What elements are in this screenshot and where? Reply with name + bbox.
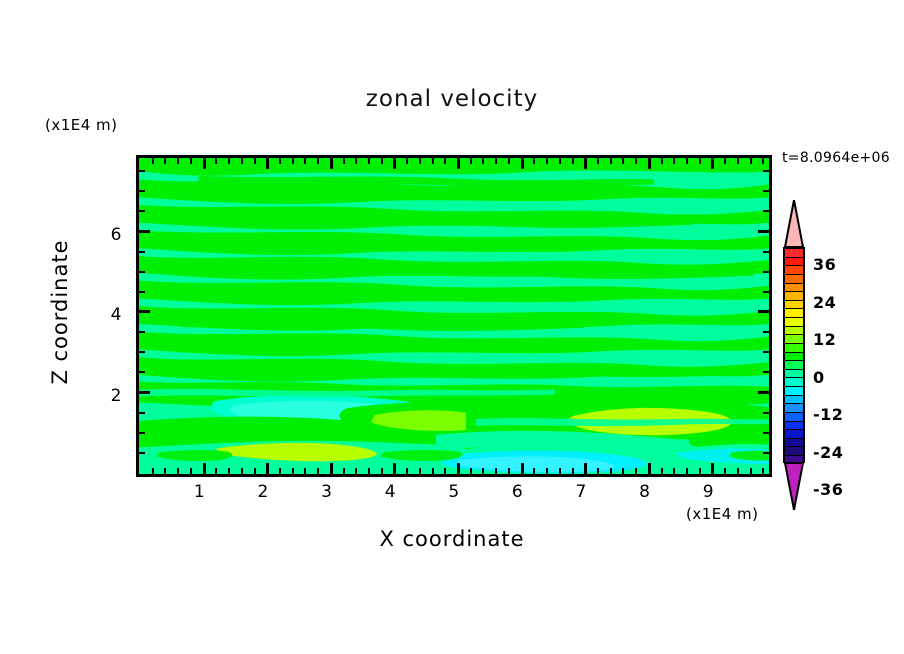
x-tick-top-minor (470, 158, 472, 164)
x-tick-minor (241, 468, 243, 474)
x-tick-top-minor (686, 158, 688, 164)
colorbar-over-arrow (783, 200, 805, 249)
colorbar-band (785, 370, 803, 379)
y-tick-right-minor (763, 210, 769, 212)
x-tick-label: 5 (439, 482, 469, 502)
x-tick-top-major (584, 158, 587, 169)
x-tick-major (457, 463, 460, 474)
y-tick-right-minor (763, 351, 769, 353)
x-tick-top-minor (215, 158, 217, 164)
colorbar-band (785, 404, 803, 413)
x-tick-minor (724, 468, 726, 474)
y-tick-label: 2 (98, 386, 122, 406)
x-tick-minor (482, 468, 484, 474)
timestamp-annotation: t=8.0964e+06 (782, 150, 890, 166)
x-tick-major (393, 463, 396, 474)
x-tick-top-minor (661, 158, 663, 164)
x-tick-top-minor (355, 158, 357, 164)
x-tick-top-minor (292, 158, 294, 164)
colorbar-label: 0 (813, 368, 825, 387)
x-tick-minor (317, 468, 319, 474)
x-tick-top-minor (597, 158, 599, 164)
x-tick-minor (406, 468, 408, 474)
x-tick-top-major (457, 158, 460, 169)
colorbar[interactable]: 36 24 12 0 -12 -24 -36 (783, 200, 805, 510)
x-tick-minor (635, 468, 637, 474)
y-tick-right-major (758, 310, 769, 313)
y-tick-right-minor (763, 271, 769, 273)
x-tick-minor (152, 468, 154, 474)
x-tick-minor (444, 468, 446, 474)
x-tick-minor (368, 468, 370, 474)
x-tick-top-minor (622, 158, 624, 164)
x-tick-minor (470, 468, 472, 474)
x-tick-top-minor (241, 158, 243, 164)
x-tick-minor (661, 468, 663, 474)
x-tick-major (521, 463, 524, 474)
x-tick-top-minor (279, 158, 281, 164)
colorbar-band (785, 292, 803, 301)
x-tick-top-minor (228, 158, 230, 164)
colorbar-band (785, 344, 803, 353)
y-tick-minor (139, 371, 145, 373)
x-tick-minor (177, 468, 179, 474)
x-tick-top-minor (559, 158, 561, 164)
x-tick-major (266, 463, 269, 474)
colorbar-band (785, 447, 803, 456)
x-tick-top-minor (406, 158, 408, 164)
x-tick-top-minor (750, 158, 752, 164)
x-tick-minor (419, 468, 421, 474)
contour-field (139, 158, 769, 474)
y-tick-major (139, 230, 150, 233)
x-tick-top-major (266, 158, 269, 169)
x-tick-top-minor (343, 158, 345, 164)
x-tick-minor (686, 468, 688, 474)
colorbar-label: 36 (813, 255, 836, 274)
y-tick-minor (139, 271, 145, 273)
y-tick-label: 4 (98, 305, 122, 325)
x-tick-major (648, 463, 651, 474)
y-tick-minor (139, 432, 145, 434)
colorbar-label: -36 (813, 480, 843, 499)
colorbar-band (785, 439, 803, 448)
x-tick-top-minor (368, 158, 370, 164)
colorbar-bands[interactable] (783, 247, 805, 463)
x-tick-major (584, 463, 587, 474)
x-tick-top-minor (724, 158, 726, 164)
x-tick-minor (228, 468, 230, 474)
colorbar-band (785, 378, 803, 387)
x-tick-top-minor (152, 158, 154, 164)
y-tick-minor (139, 251, 145, 253)
x-tick-top-minor (737, 158, 739, 164)
x-tick-top-minor (304, 158, 306, 164)
x-tick-top-minor (381, 158, 383, 164)
x-tick-top-minor (533, 158, 535, 164)
y-axis-unit-caption: (x1E4 m) (45, 116, 118, 134)
x-tick-minor (215, 468, 217, 474)
x-tick-top-minor (673, 158, 675, 164)
x-tick-minor (559, 468, 561, 474)
x-tick-major (711, 463, 714, 474)
x-tick-label: 4 (375, 482, 405, 502)
y-tick-right-minor (763, 371, 769, 373)
x-tick-top-minor (317, 158, 319, 164)
x-tick-minor (750, 468, 752, 474)
x-tick-minor (495, 468, 497, 474)
x-tick-minor (343, 468, 345, 474)
x-tick-minor (572, 468, 574, 474)
x-tick-major (203, 463, 206, 474)
x-tick-minor (699, 468, 701, 474)
contour-plot-area[interactable] (136, 155, 772, 477)
y-tick-right-minor (763, 291, 769, 293)
x-tick-top-minor (699, 158, 701, 164)
x-axis-unit-caption: (x1E4 m) (686, 505, 759, 523)
colorbar-band (785, 430, 803, 439)
colorbar-band (785, 258, 803, 267)
x-tick-top-major (203, 158, 206, 169)
x-tick-top-major (521, 158, 524, 169)
colorbar-band (785, 413, 803, 422)
y-axis-title: Z coordinate (48, 217, 72, 407)
y-tick-minor (139, 190, 145, 192)
x-tick-top-major (711, 158, 714, 169)
y-tick-right-minor (763, 452, 769, 454)
x-tick-top-minor (508, 158, 510, 164)
y-tick-minor (139, 412, 145, 414)
x-tick-minor (622, 468, 624, 474)
y-tick-right-minor (763, 331, 769, 333)
y-tick-minor (139, 331, 145, 333)
y-tick-major (139, 391, 150, 394)
y-tick-minor (139, 351, 145, 353)
y-tick-major (139, 310, 150, 313)
x-tick-minor (279, 468, 281, 474)
x-tick-minor (432, 468, 434, 474)
x-tick-top-major (330, 158, 333, 169)
colorbar-band (785, 275, 803, 284)
x-tick-top-major (648, 158, 651, 169)
colorbar-band (785, 318, 803, 327)
y-tick-right-minor (763, 412, 769, 414)
colorbar-band (785, 335, 803, 344)
x-tick-top-minor (635, 158, 637, 164)
x-tick-minor (304, 468, 306, 474)
x-tick-minor (597, 468, 599, 474)
x-tick-top-minor (482, 158, 484, 164)
x-tick-top-minor (610, 158, 612, 164)
colorbar-under-arrow (783, 461, 805, 510)
x-tick-minor (737, 468, 739, 474)
colorbar-band (785, 361, 803, 370)
y-tick-right-minor (763, 251, 769, 253)
x-tick-minor (533, 468, 535, 474)
colorbar-band (785, 266, 803, 275)
x-tick-minor (254, 468, 256, 474)
colorbar-band (785, 387, 803, 396)
y-tick-right-minor (763, 170, 769, 172)
x-tick-minor (508, 468, 510, 474)
x-tick-top-minor (190, 158, 192, 164)
x-tick-minor (762, 468, 764, 474)
x-tick-top-minor (546, 158, 548, 164)
x-tick-label: 7 (566, 482, 596, 502)
colorbar-label: 12 (813, 330, 836, 349)
colorbar-label: -24 (813, 443, 843, 462)
y-tick-minor (139, 210, 145, 212)
x-tick-label: 6 (503, 482, 533, 502)
x-tick-top-minor (419, 158, 421, 164)
x-tick-top-minor (254, 158, 256, 164)
x-tick-major (330, 463, 333, 474)
colorbar-label: -12 (813, 405, 843, 424)
x-tick-label: 1 (185, 482, 215, 502)
y-tick-minor (139, 170, 145, 172)
y-tick-right-minor (763, 432, 769, 434)
colorbar-band (785, 422, 803, 431)
x-tick-minor (292, 468, 294, 474)
x-tick-top-minor (572, 158, 574, 164)
x-tick-top-major (393, 158, 396, 169)
x-tick-minor (190, 468, 192, 474)
y-tick-right-major (758, 391, 769, 394)
colorbar-band (785, 249, 803, 258)
x-tick-minor (546, 468, 548, 474)
x-tick-top-minor (432, 158, 434, 164)
y-tick-right-minor (763, 190, 769, 192)
y-tick-label: 6 (98, 225, 122, 245)
colorbar-band (785, 327, 803, 336)
x-tick-top-minor (164, 158, 166, 164)
y-tick-minor (139, 291, 145, 293)
x-tick-label: 3 (312, 482, 342, 502)
x-tick-minor (355, 468, 357, 474)
x-tick-minor (381, 468, 383, 474)
x-tick-label: 2 (248, 482, 278, 502)
x-tick-minor (164, 468, 166, 474)
colorbar-band (785, 353, 803, 362)
x-tick-top-minor (444, 158, 446, 164)
chart-title: zonal velocity (0, 86, 904, 112)
x-tick-top-minor (495, 158, 497, 164)
y-tick-minor (139, 452, 145, 454)
colorbar-band (785, 301, 803, 310)
colorbar-band (785, 396, 803, 405)
x-axis-title: X coordinate (0, 527, 904, 551)
x-tick-top-minor (177, 158, 179, 164)
colorbar-band (785, 284, 803, 293)
x-tick-minor (610, 468, 612, 474)
x-tick-label: 9 (693, 482, 723, 502)
x-tick-top-minor (762, 158, 764, 164)
x-tick-label: 8 (630, 482, 660, 502)
colorbar-band (785, 309, 803, 318)
y-tick-right-major (758, 230, 769, 233)
colorbar-label: 24 (813, 293, 836, 312)
x-tick-minor (673, 468, 675, 474)
